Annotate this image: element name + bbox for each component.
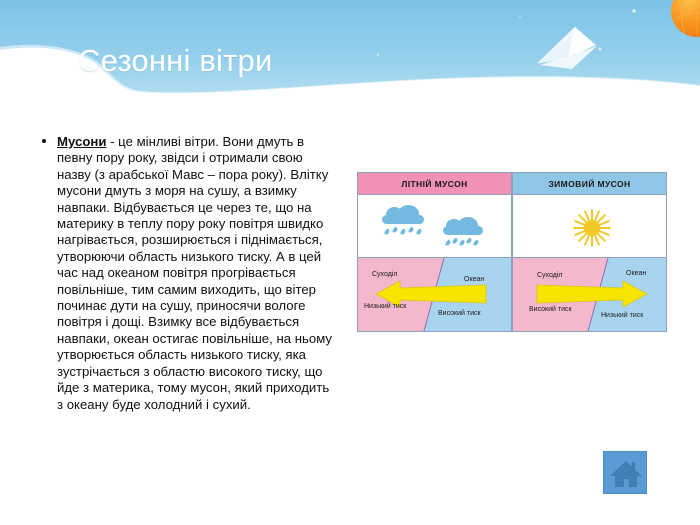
body-text-block: Мусони - це мінливі вітри. Вони дмуть в … (38, 134, 338, 413)
raindrop-icon (399, 228, 406, 235)
rain-cloud-icon (380, 205, 426, 225)
home-button[interactable] (603, 451, 647, 494)
bullet-item: Мусони - це мінливі вітри. Вони дмуть в … (38, 134, 338, 413)
bullet-dot-icon (42, 139, 46, 143)
winter-ocean-label: Океан (626, 270, 646, 277)
diagram-winter-ground: Суходіл Високий тиск Океан Низький тиск (513, 258, 666, 331)
raindrop-icon (407, 226, 414, 233)
lead-term: Мусони (57, 134, 106, 149)
winter-land-pressure: Високий тиск (529, 306, 572, 313)
diagram-summer-sky (358, 195, 511, 258)
summer-land-pressure: Низький тиск (364, 303, 406, 310)
raindrop-icon (451, 237, 458, 244)
summer-land-label: Суходіл (372, 271, 397, 278)
home-icon (604, 452, 648, 495)
diagram-winter-sky (513, 195, 666, 258)
diagram-winter-title: ЗИМОВИЙ МУСОН (513, 173, 666, 195)
raindrop-icon (383, 228, 390, 235)
slide-header-banner: Сезонні вітри (0, 0, 700, 100)
rain-cloud-icon (441, 217, 485, 236)
winter-land-label: Суходіл (537, 272, 562, 279)
raindrop-icon (458, 239, 465, 246)
body-paragraph: - це мінливі вітри. Вони дмуть в певну п… (57, 134, 332, 412)
page-title: Сезонні вітри (78, 43, 273, 79)
summer-ocean-pressure: Високий тиск (438, 310, 481, 317)
raindrop-icon (415, 228, 422, 235)
raindrop-icon (472, 239, 479, 246)
sun-icon (573, 209, 611, 247)
diagram-summer-title: ЛІТНІЙ МУСОН (358, 173, 511, 195)
diagram-winter-monsoon: ЗИМОВИЙ МУСОН (512, 172, 667, 332)
winter-ocean-pressure: Низький тиск (601, 312, 643, 319)
coastline-and-arrow (513, 258, 666, 331)
coastline-and-arrow (358, 258, 511, 331)
raindrop-icon (391, 226, 398, 233)
raindrop-icon (465, 237, 472, 244)
summer-ocean-label: Океан (464, 276, 484, 283)
raindrop-icon (444, 239, 451, 246)
diagram-summer-monsoon: ЛІТНІЙ МУСОН (357, 172, 512, 332)
wind-arrow-right-icon (537, 281, 647, 307)
diagram-summer-ground: Суходіл Низький тиск Океан Високий тиск (358, 258, 511, 331)
slide-canvas: Сезонні вітри Мусони - це мінливі вітри.… (0, 0, 700, 525)
